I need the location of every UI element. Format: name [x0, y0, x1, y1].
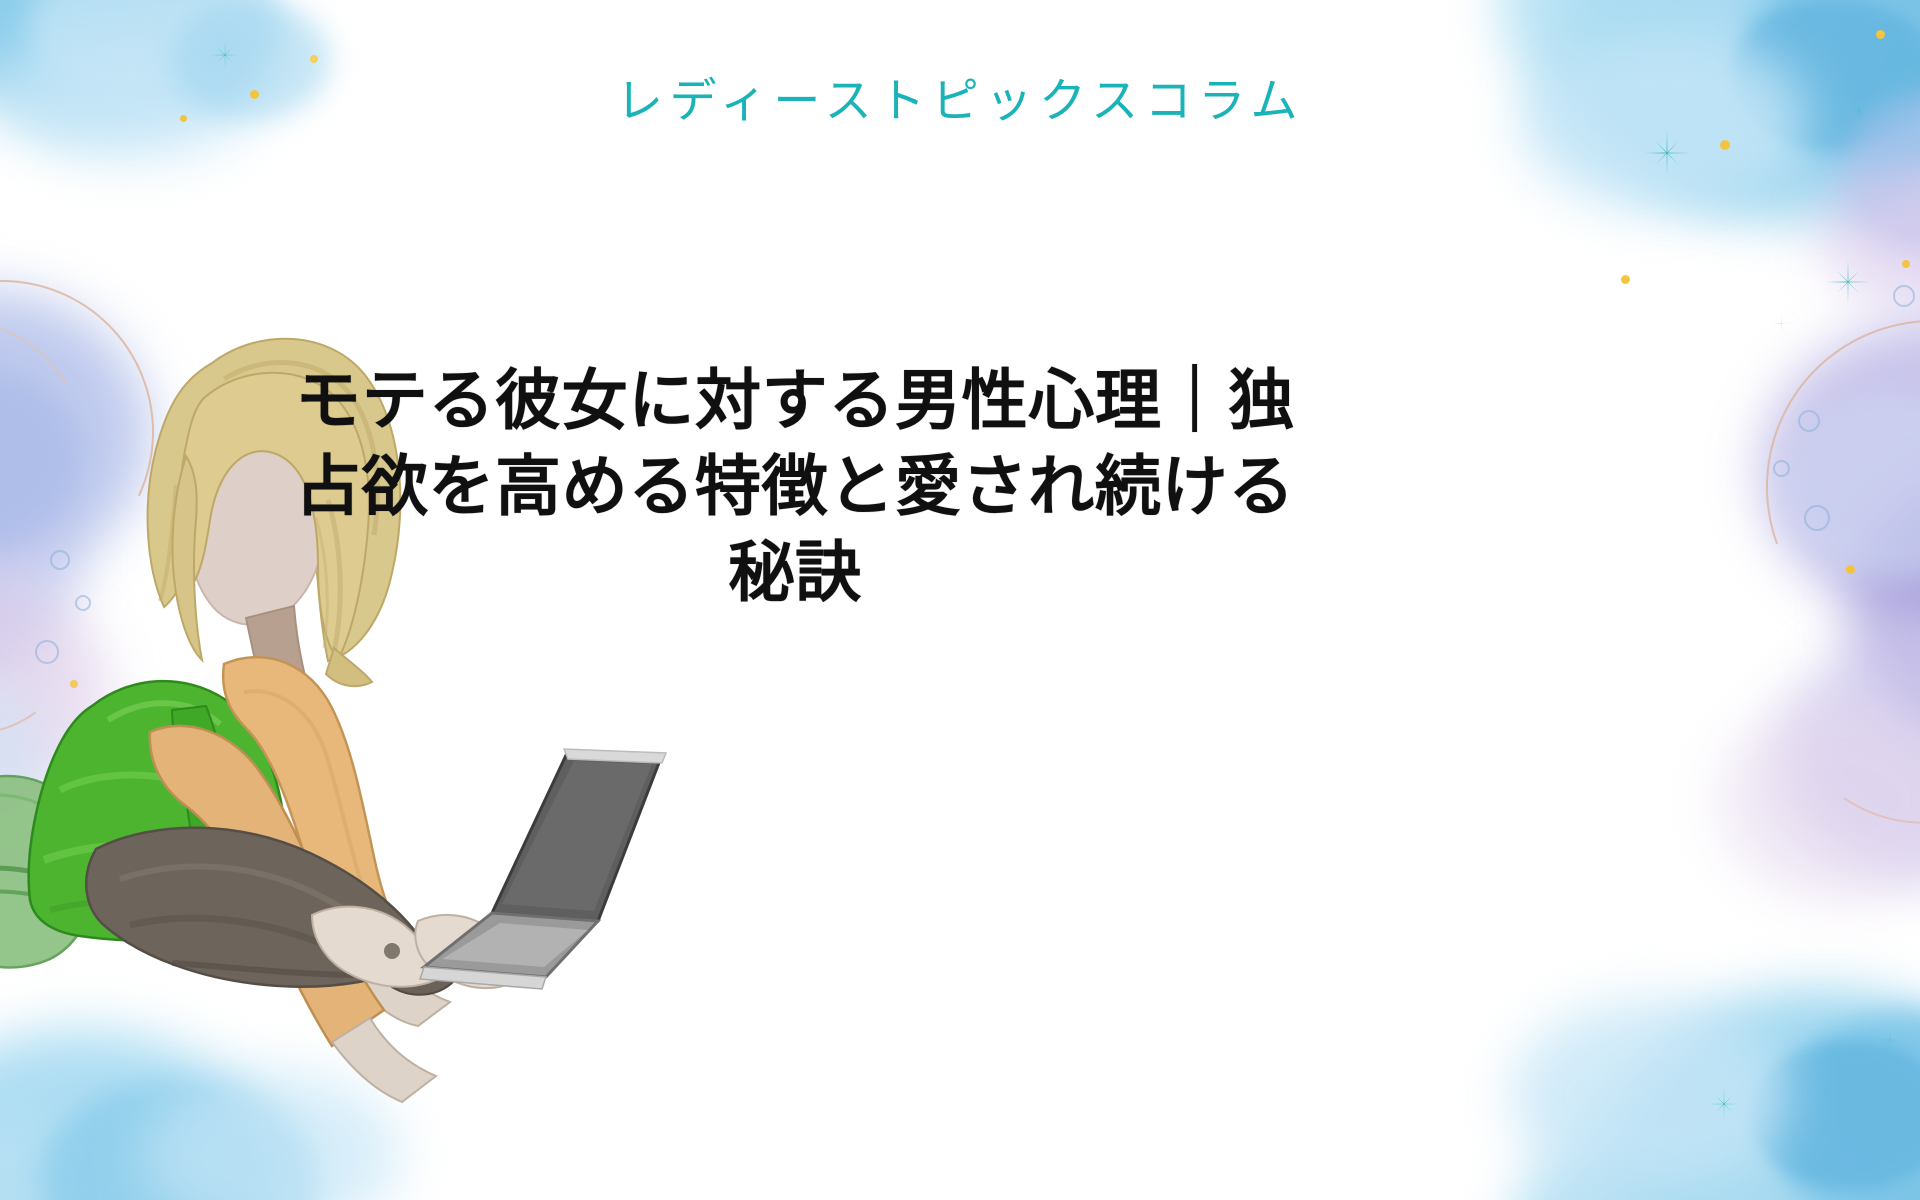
filigree-arc: [1711, 265, 1920, 709]
banner-canvas: レディーストピックスコラム モテる彼女に対する男性心理｜独 占欲を高める特徴と愛…: [0, 0, 1920, 1200]
sparkle-icon: [1826, 260, 1870, 304]
sparkle-icon: [1880, 1030, 1900, 1050]
decoration-top-right: [1320, 0, 1920, 350]
gold-dot: [1846, 565, 1855, 574]
gold-dot: [1876, 30, 1885, 39]
decoration-right-middle: [1660, 300, 1920, 920]
sparkle-icon: [1773, 315, 1790, 332]
filigree-arc: [1748, 494, 1920, 850]
sparkle-icon: [210, 40, 240, 70]
bubble-ring: [1798, 410, 1820, 432]
laptop: [350, 745, 700, 1005]
bubble-ring: [1804, 505, 1830, 531]
title-line-2: 占欲を高める特徴と愛され続ける: [290, 444, 1300, 530]
title-line-1: モテる彼女に対する男性心理｜独: [290, 358, 1300, 444]
gold-dot: [1902, 260, 1910, 268]
sparkle-icon: [1708, 1088, 1740, 1120]
eyebrow-category-label: レディーストピックスコラム: [0, 72, 1920, 131]
sparkle-icon: [1644, 130, 1690, 176]
gold-dot: [1621, 275, 1630, 284]
title-line-3: 秘訣: [290, 530, 1300, 616]
bubble-ring: [1893, 285, 1915, 307]
gold-dot: [310, 55, 318, 63]
page-title: モテる彼女に対する男性心理｜独 占欲を高める特徴と愛され続ける 秘訣: [290, 358, 1300, 615]
decoration-top-left: [0, 0, 440, 280]
bubble-ring: [1773, 460, 1790, 477]
decoration-bottom-right: [1370, 860, 1920, 1200]
gold-dot: [1720, 140, 1730, 150]
